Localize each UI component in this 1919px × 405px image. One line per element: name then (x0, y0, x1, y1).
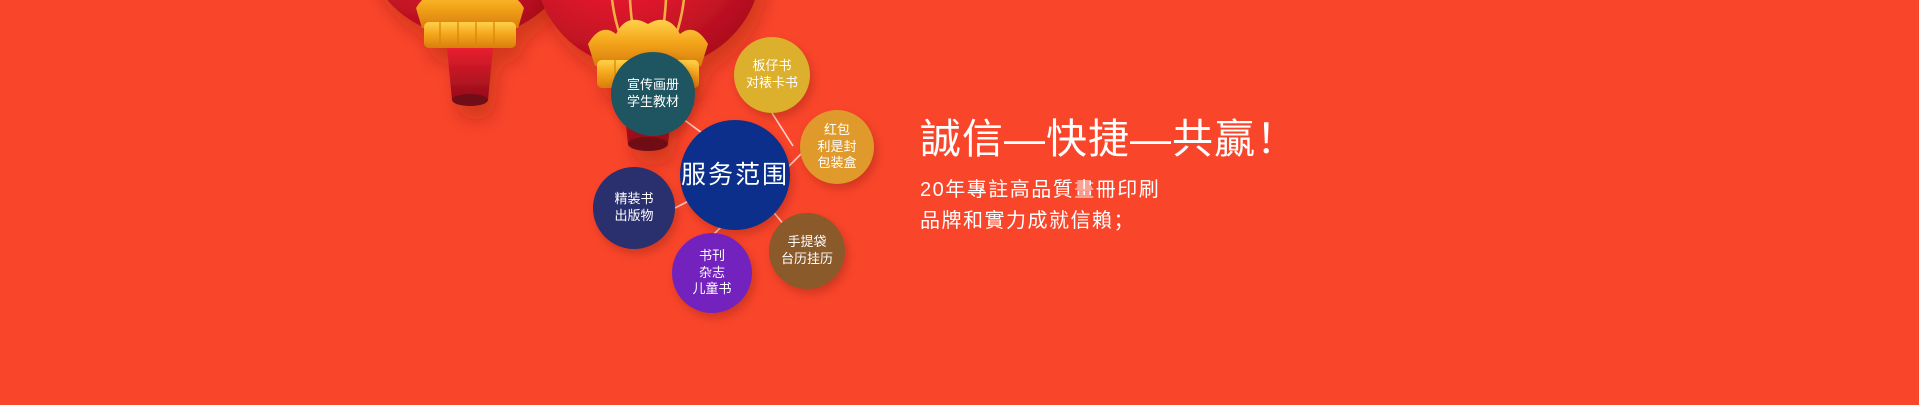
subline-1: 20年專註高品質畫冊印刷 (920, 175, 1298, 206)
bubble-node-board-book[interactable]: 板仔书 对裱卡书 (734, 37, 810, 113)
bubble-node-promo[interactable]: 宣传画册 学生教材 (611, 52, 695, 136)
bubble-node-magazine-line-3: 儿童书 (692, 281, 731, 298)
bubble-node-handbag[interactable]: 手提袋 台历挂历 (769, 213, 845, 289)
bubble-node-redpacket[interactable]: 红包 利是封 包装盒 (800, 110, 874, 184)
bubble-center-label: 服务范围 (681, 159, 789, 191)
bubble-node-hardcover[interactable]: 精装书 出版物 (593, 167, 675, 249)
bubble-node-magazine-line-2: 杂志 (699, 265, 725, 282)
bubble-node-hardcover-line-1: 精装书 (614, 191, 653, 208)
bubble-node-redpacket-line-2: 利是封 (817, 139, 856, 156)
bubble-node-magazine-line-1: 书刊 (699, 248, 725, 265)
bubble-node-board-book-line-1: 板仔书 (752, 58, 791, 75)
bubble-node-redpacket-line-3: 包装盒 (817, 155, 856, 172)
bubble-node-handbag-line-1: 手提袋 (787, 234, 826, 251)
bubble-center-service-scope[interactable]: 服务范围 (680, 120, 790, 230)
bubble-node-promo-line-1: 宣传画册 (627, 77, 679, 94)
bubble-node-handbag-line-2: 台历挂历 (781, 251, 833, 268)
subline-2: 品牌和實力成就信賴； (920, 206, 1298, 237)
bubble-node-redpacket-line-1: 红包 (824, 122, 850, 139)
bubble-node-board-book-line-2: 对裱卡书 (746, 75, 798, 92)
bubble-node-hardcover-line-2: 出版物 (614, 208, 653, 225)
headline: 誠信—快捷—共贏！ (920, 118, 1298, 161)
bubble-node-promo-line-2: 学生教材 (627, 94, 679, 111)
marketing-copy: 誠信—快捷—共贏！ 20年專註高品質畫冊印刷 品牌和實力成就信賴； (920, 118, 1298, 237)
promotional-banner: 服务范围 宣传画册 学生教材 板仔书 对裱卡书 红包 利是封 包装盒 精装书 出… (0, 0, 1919, 405)
bubble-node-magazine[interactable]: 书刊 杂志 儿童书 (672, 233, 752, 313)
